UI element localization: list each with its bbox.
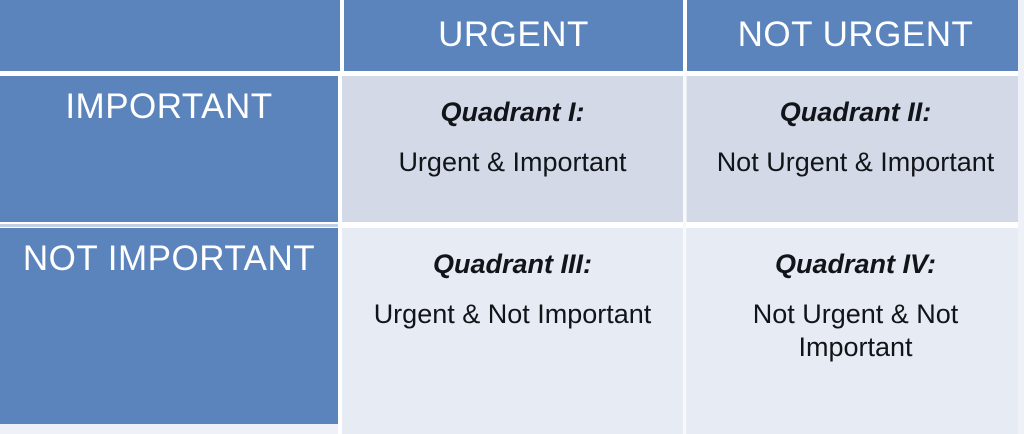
eisenhower-matrix: URGENT NOT URGENT IMPORTANT Quadrant I: …	[0, 0, 1024, 434]
quadrant-4-title: Quadrant IV:	[775, 250, 936, 280]
right-edge-strip	[1018, 0, 1024, 434]
column-divider-1-body	[338, 76, 342, 434]
quadrant-4-cell: Quadrant IV: Not Urgent & Not Important	[687, 228, 1024, 434]
matrix-corner-cell	[0, 0, 340, 71]
column-header-not-urgent: NOT URGENT	[687, 0, 1024, 71]
quadrant-2-description: Not Urgent & Important	[717, 146, 995, 179]
quadrant-2-cell: Quadrant II: Not Urgent & Important	[687, 76, 1024, 222]
quadrant-1-description: Urgent & Important	[398, 146, 626, 179]
bottom-left-strip	[0, 424, 338, 434]
column-header-urgent: URGENT	[344, 0, 683, 71]
column-divider-2-body	[683, 76, 686, 434]
quadrant-1-cell: Quadrant I: Urgent & Important	[342, 76, 683, 222]
row-header-important-label: IMPORTANT	[0, 89, 338, 126]
row-header-not-important: NOT IMPORTANT	[0, 228, 338, 424]
quadrant-3-cell: Quadrant III: Urgent & Not Important	[342, 228, 683, 434]
quadrant-3-description: Urgent & Not Important	[374, 298, 652, 331]
quadrant-3-title: Quadrant III:	[433, 250, 592, 280]
column-header-not-urgent-label: NOT URGENT	[738, 17, 974, 54]
quadrant-4-description: Not Urgent & Not Important	[728, 298, 983, 364]
row-divider-blue-segment	[0, 224, 338, 227]
quadrant-2-title: Quadrant II:	[780, 98, 932, 128]
row-header-not-important-label: NOT IMPORTANT	[0, 241, 338, 278]
quadrant-1-title: Quadrant I:	[440, 98, 584, 128]
column-header-urgent-label: URGENT	[438, 17, 589, 54]
column-divider-2-header	[683, 0, 687, 71]
column-divider-1-header	[340, 0, 344, 71]
row-header-important: IMPORTANT	[0, 76, 338, 222]
